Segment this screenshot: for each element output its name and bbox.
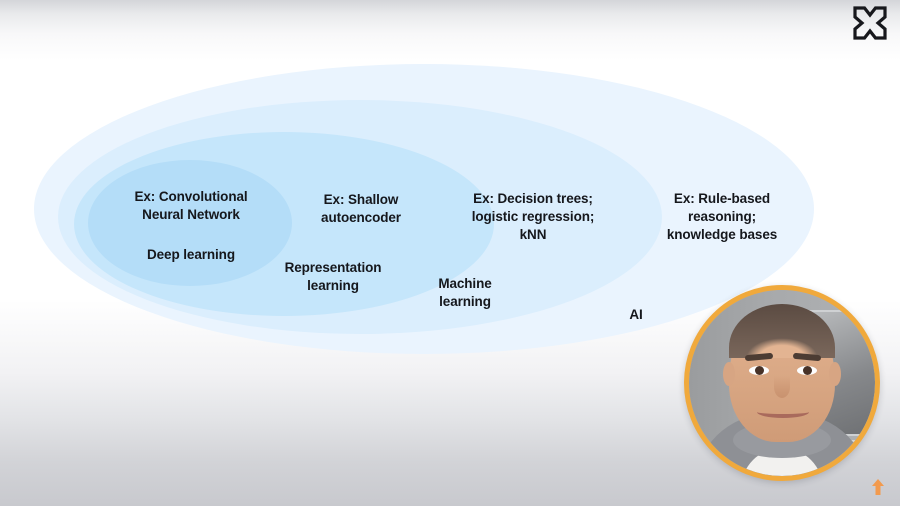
brand-x-logo-icon [850,4,890,42]
presenter-mouth [757,406,809,418]
slide-canvas: Ex: Convolutional Neural Network Deep le… [0,0,900,506]
webcam-video-feed [689,290,875,476]
label-example-ai: Ex: Rule-based reasoning; knowledge base… [640,190,804,244]
presenter-eye-left [749,366,769,375]
presenter-pupil-right [803,366,812,375]
presenter-eye-right [797,366,817,375]
upload-arrow-icon[interactable] [870,478,886,496]
presenter-ear-left [723,362,735,386]
label-domain-ai: AI [612,306,660,324]
presenter-nose [774,376,790,398]
label-domain-machine-learning: Machine learning [412,275,518,311]
label-domain-representation-learning: Representation learning [266,259,400,295]
label-example-machine-learning: Ex: Decision trees; logistic regression;… [450,190,616,244]
presenter-webcam-bubble[interactable] [684,285,880,481]
label-domain-deep-learning: Deep learning [96,246,286,264]
label-example-deep-learning: Ex: Convolutional Neural Network [96,188,286,224]
presenter-pupil-left [755,366,764,375]
presenter-ear-right [829,362,841,386]
label-example-representation-learning: Ex: Shallow autoencoder [283,191,439,227]
